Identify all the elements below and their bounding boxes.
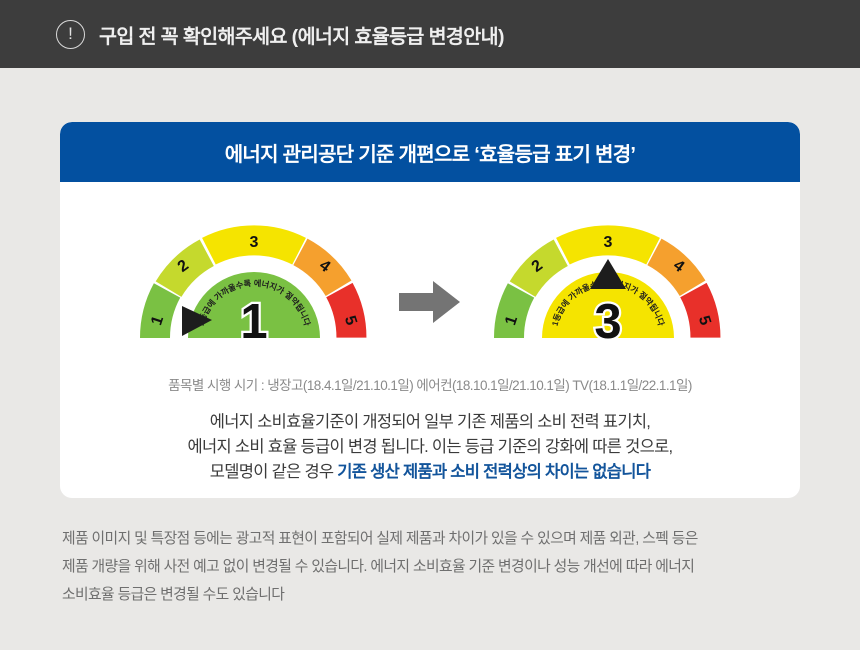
gauge-before-segment-5 (339, 290, 351, 338)
gauge-before: 1 2 3 4 5 1등급에 가까울수록 에너지가 절약됩니다 1 (130, 214, 376, 346)
disclaimer-line-3: 소비효율 등급은 변경될 수도 있습니다 (62, 581, 800, 609)
notice-card: 에너지 관리공단 기준 개편으로 ‘효율등급 표기 변경’ 1 2 (60, 122, 800, 498)
page-title: 구입 전 꼭 확인해주세요 (에너지 효율등급 변경안내) (99, 20, 504, 49)
card-header-bar: 에너지 관리공단 기준 개편으로 ‘효율등급 표기 변경’ (60, 122, 800, 182)
notice-paragraph-highlight: 기존 생산 제품과 소비 전력상의 차이는 없습니다 (337, 463, 650, 481)
gauge-after: 1 2 3 4 5 1등급에 가까울수록 에너지가 절약됩니다 3 (484, 214, 730, 346)
notice-paragraph-line-3: 모델명이 같은 경우 기존 생산 제품과 소비 전력상의 차이는 없습니다 (60, 460, 800, 485)
page-header: ! 구입 전 꼭 확인해주세요 (에너지 효율등급 변경안내) (0, 0, 860, 68)
disclaimer-line-2: 제품 개량을 위해 사전 예고 없이 변경될 수 있습니다. 에너지 소비효율 … (62, 553, 800, 581)
gauge-after-segment-1 (509, 290, 521, 338)
gauge-comparison: 1 2 3 4 5 1등급에 가까울수록 에너지가 절약됩니다 1 (60, 200, 800, 360)
schedule-note: 품목별 시행 시기 : 냉장고(18.4.1일/21.10.1일) 에어컨(18… (60, 374, 800, 394)
gauge-after-label-3: 3 (604, 234, 613, 251)
gauge-before-grade: 1 (240, 295, 267, 346)
gauge-before-segment-1 (155, 290, 167, 338)
card-header-title: 에너지 관리공단 기준 개편으로 ‘효율등급 표기 변경’ (225, 138, 636, 167)
notice-paragraph: 에너지 소비효율기준이 개정되어 일부 기존 제품의 소비 전력 표기치, 에너… (60, 410, 800, 485)
notice-paragraph-line-2: 에너지 소비 효율 등급이 변경 됩니다. 이는 등급 기준의 강화에 따른 것… (60, 435, 800, 460)
notice-paragraph-line-1: 에너지 소비효율기준이 개정되어 일부 기존 제품의 소비 전력 표기치, (60, 410, 800, 435)
transition-arrow (390, 272, 470, 332)
right-arrow-icon (399, 280, 461, 324)
disclaimer-text: 제품 이미지 및 특장점 등에는 광고적 표현이 포함되어 실제 제품과 차이가… (62, 525, 800, 609)
notice-paragraph-line-3-plain: 모델명이 같은 경우 (210, 463, 338, 481)
gauge-after-graphic: 1 2 3 4 5 1등급에 가까울수록 에너지가 절약됩니다 3 (484, 214, 730, 346)
gauge-after-segment-5 (693, 290, 705, 338)
gauge-before-label-3: 3 (250, 234, 259, 251)
gauge-before-graphic: 1 2 3 4 5 1등급에 가까울수록 에너지가 절약됩니다 1 (130, 214, 376, 346)
gauge-after-grade: 3 (594, 295, 621, 346)
disclaimer-line-1: 제품 이미지 및 특장점 등에는 광고적 표현이 포함되어 실제 제품과 차이가… (62, 525, 800, 553)
exclamation-glyph: ! (68, 25, 73, 42)
exclamation-circle-icon: ! (56, 20, 85, 49)
